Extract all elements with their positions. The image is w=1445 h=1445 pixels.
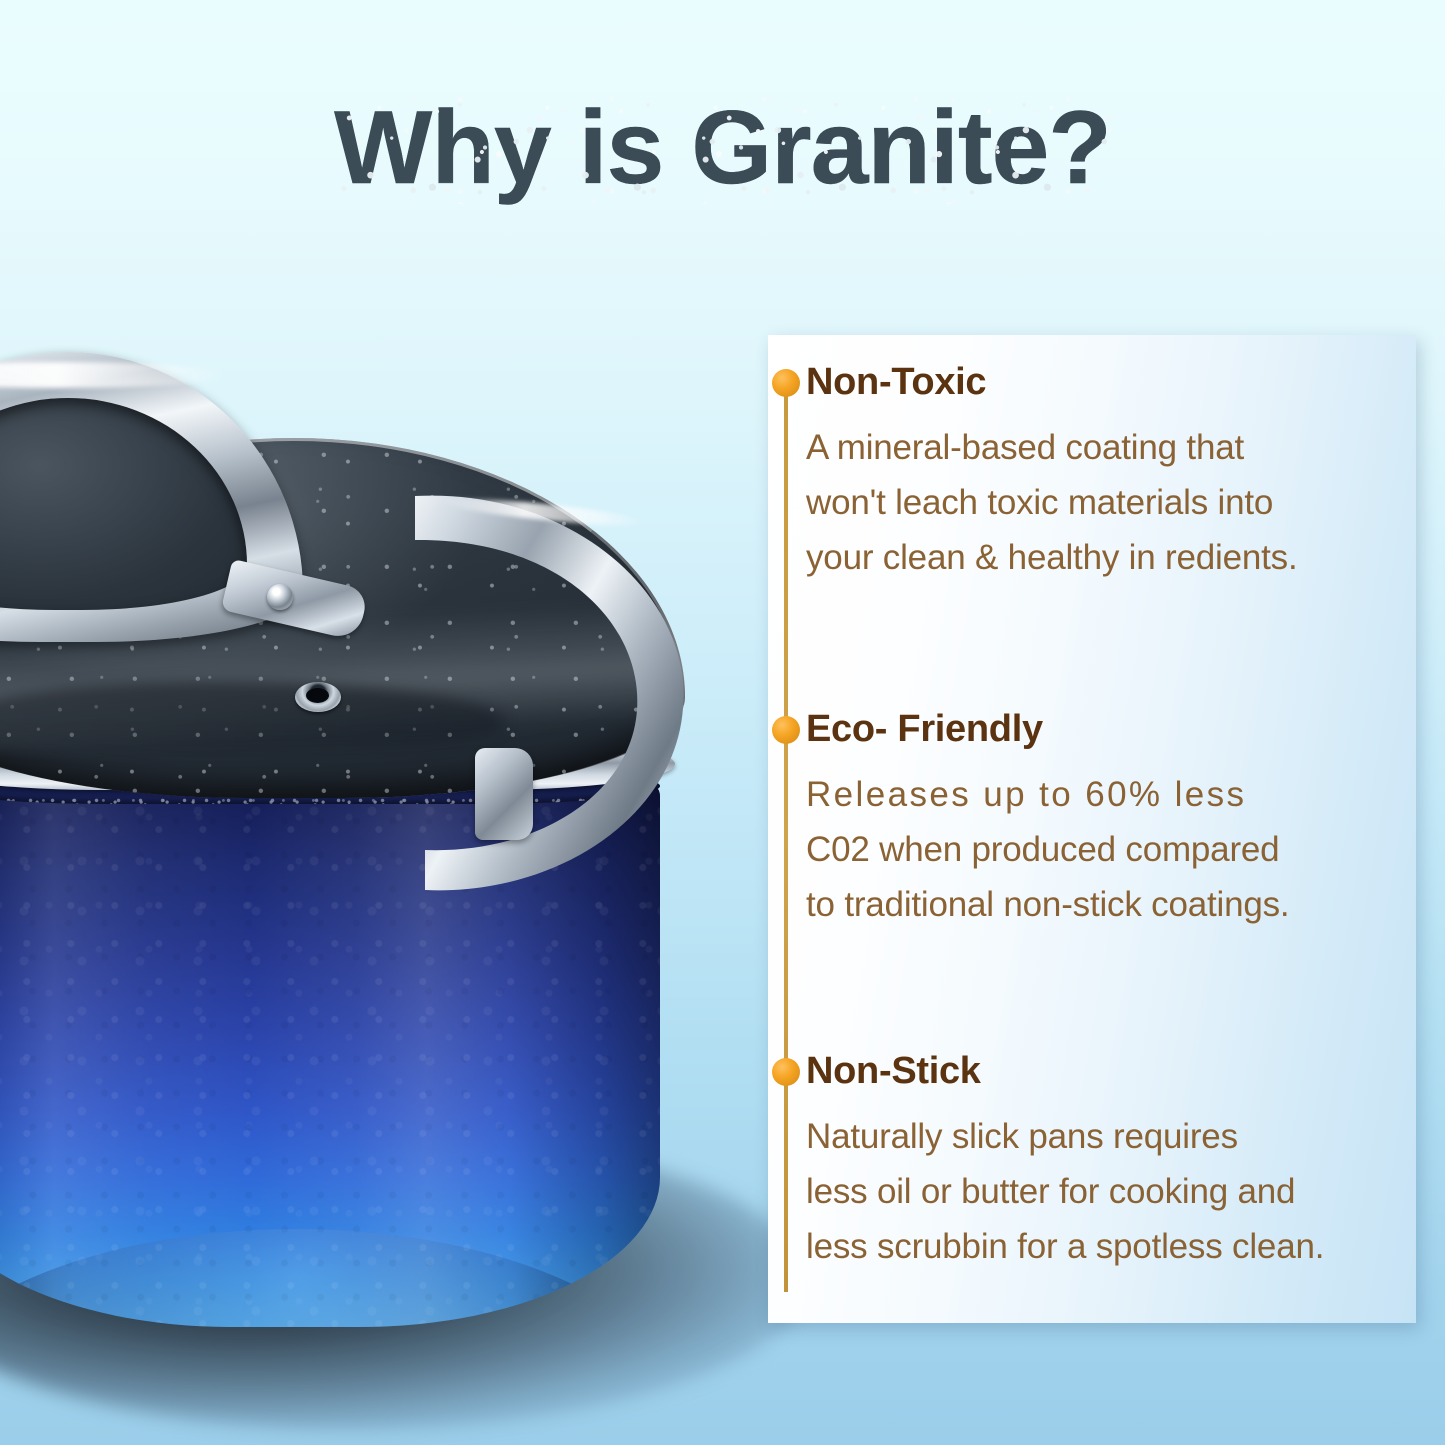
feature-line: to traditional non-stick coatings. [806, 877, 1406, 932]
feature-eco-friendly: Eco- Friendly Releases up to 60% less C0… [806, 709, 1406, 933]
infographic-canvas: Why is Granite? Non-Toxic A mineral-base… [0, 0, 1445, 1445]
side-handle-mount [475, 748, 533, 840]
feature-line: won't leach toxic materials into [806, 475, 1406, 530]
timeline-rail [784, 386, 788, 1292]
feature-line: less oil or butter for cooking and [806, 1164, 1406, 1219]
lid-handle-highlight [0, 362, 229, 388]
feature-line: less scrubbin for a spotless clean. [806, 1219, 1406, 1274]
bullet-dot-1 [772, 716, 800, 744]
feature-line: Releases up to 60% less [806, 767, 1406, 822]
feature-body: A mineral-based coating that won't leach… [806, 420, 1406, 586]
side-handle-arc [405, 478, 705, 908]
page-title: Why is Granite? [334, 92, 1111, 204]
lid-handle [0, 352, 303, 642]
page-title-container: Why is Granite? [0, 92, 1445, 204]
feature-body: Releases up to 60% less C02 when produce… [806, 767, 1406, 933]
steam-vent-hole [306, 688, 329, 703]
pot-side-handle [405, 478, 705, 908]
feature-line: A mineral-based coating that [806, 420, 1406, 475]
feature-line: C02 when produced compared [806, 822, 1406, 877]
bullet-dot-2 [772, 1058, 800, 1086]
feature-line: your clean & healthy in redients. [806, 530, 1406, 585]
bullet-dot-0 [772, 369, 800, 397]
page-title-text: Why is Granite? [334, 90, 1111, 206]
feature-heading: Eco- Friendly [806, 709, 1406, 751]
feature-body: Naturally slick pans requires less oil o… [806, 1109, 1406, 1275]
lid-handle-rivet [267, 584, 293, 610]
feature-heading: Non-Toxic [806, 362, 1406, 404]
feature-non-toxic: Non-Toxic A mineral-based coating that w… [806, 362, 1406, 586]
feature-non-stick: Non-Stick Naturally slick pans requires … [806, 1051, 1406, 1275]
feature-line: Naturally slick pans requires [806, 1109, 1406, 1164]
feature-heading: Non-Stick [806, 1051, 1406, 1093]
product-image [0, 330, 785, 1440]
